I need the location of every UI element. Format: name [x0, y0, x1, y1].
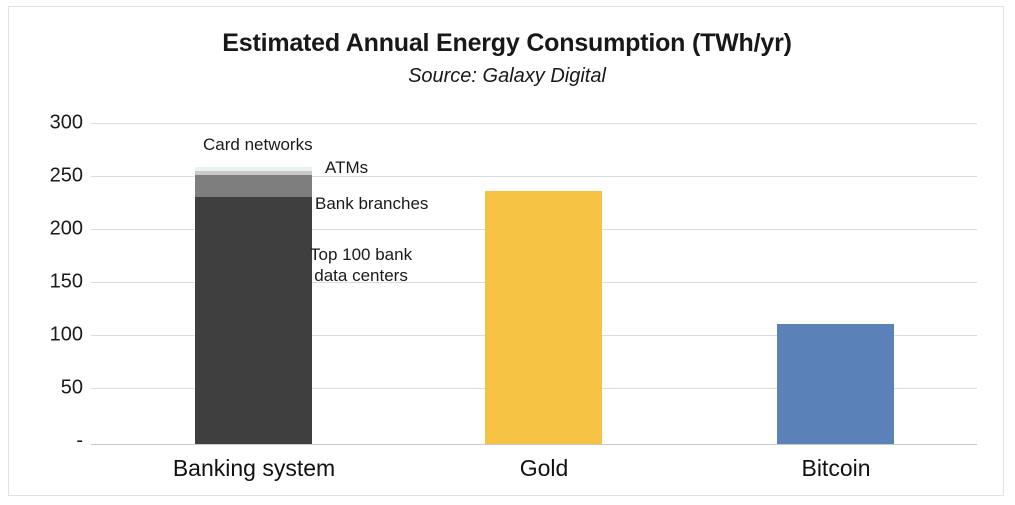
y-tick-300: 300 [21, 112, 83, 135]
annotation-atms: ATMs [325, 157, 368, 178]
y-tick-0: - [21, 430, 83, 453]
bar-gold[interactable] [485, 191, 602, 444]
plot-area: Card networks ATMs Bank branches Top 100… [91, 115, 977, 445]
chart-container: Estimated Annual Energy Consumption (TWh… [8, 6, 1004, 496]
bar-bitcoin[interactable] [777, 324, 894, 444]
annotation-card-networks: Card networks [203, 134, 313, 155]
y-tick-100: 100 [21, 324, 83, 347]
y-tick-150: 150 [21, 271, 83, 294]
axis-baseline [91, 444, 977, 445]
annotation-bank-branches: Bank branches [315, 193, 428, 214]
bank-branches-segment[interactable] [195, 175, 312, 197]
category-label-gold: Gold [520, 455, 569, 482]
category-label-bitcoin: Bitcoin [801, 455, 870, 482]
y-tick-200: 200 [21, 218, 83, 241]
chart-subtitle: Source: Galaxy Digital [9, 65, 1005, 88]
category-label-banking-system: Banking system [173, 455, 335, 482]
y-tick-250: 250 [21, 165, 83, 188]
chart-title: Estimated Annual Energy Consumption (TWh… [9, 29, 1005, 58]
y-axis: 300 250 200 150 100 50 - [17, 115, 83, 445]
bar-banking-system[interactable] [195, 167, 312, 444]
gridline-300 [91, 123, 977, 124]
y-tick-50: 50 [21, 377, 83, 400]
annotation-data-centers: Top 100 bank data centers [310, 244, 412, 286]
data-centers-segment[interactable] [195, 197, 312, 444]
